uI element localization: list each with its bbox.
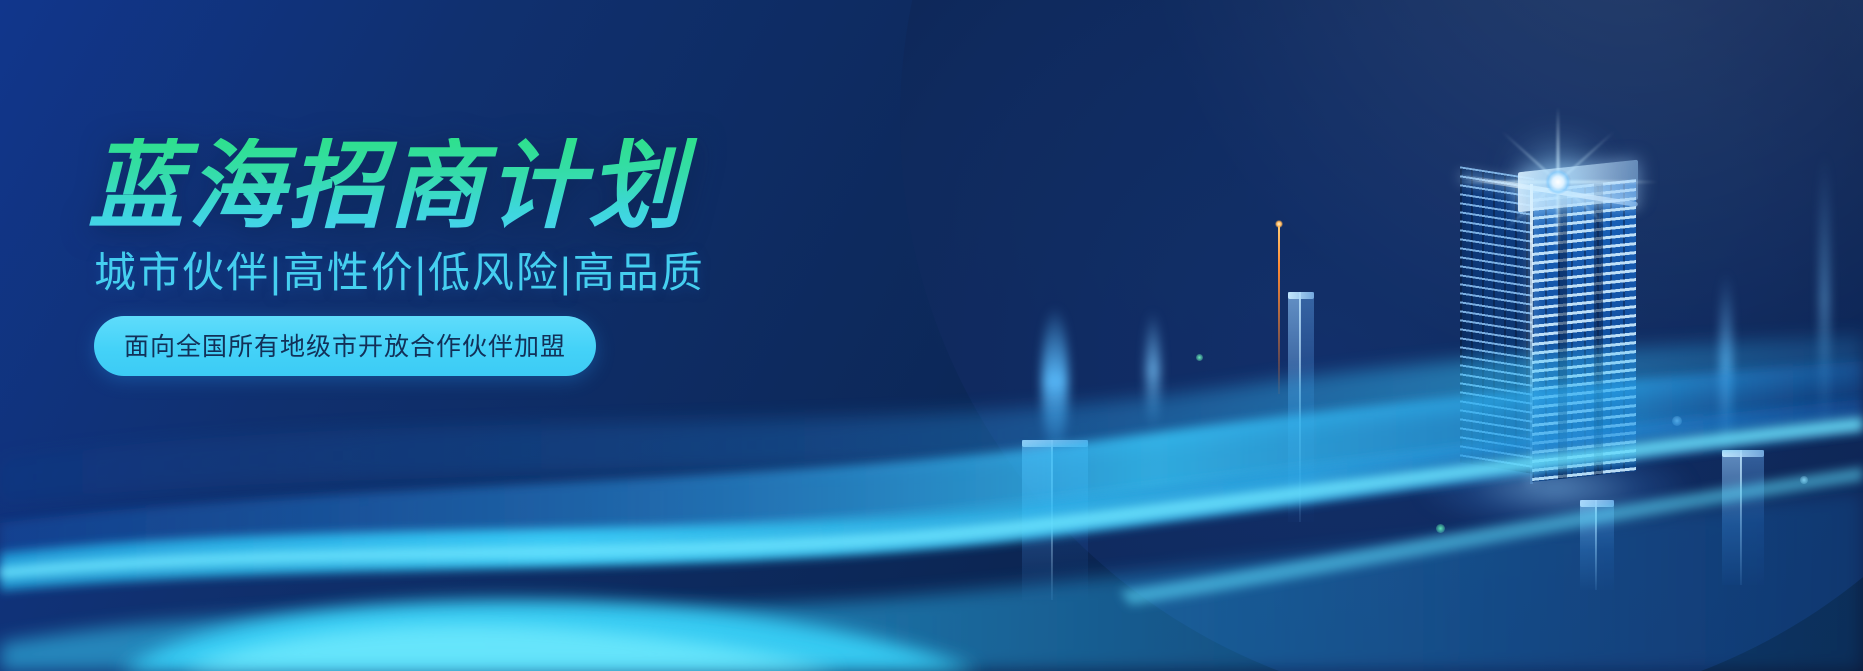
planet-outer-glow — [860, 0, 1863, 671]
glass-pillar — [1580, 500, 1614, 590]
city-illustration — [1160, 120, 1863, 590]
flare-ray-vertical — [1557, 107, 1560, 257]
flare-core — [1545, 169, 1571, 195]
highrise-building — [1460, 160, 1636, 480]
building-roof — [1518, 160, 1638, 213]
glow-dot — [1556, 420, 1563, 427]
orange-antenna-light — [1278, 224, 1280, 394]
pillar-cap — [1722, 450, 1764, 457]
banner-subtitle: 城市伙伴|高性价|低风险|高品质 — [94, 250, 848, 296]
pillar-face-right — [1052, 440, 1088, 600]
building-ridge-light — [1460, 174, 1639, 207]
cta-pill-badge[interactable]: 面向全国所有地级市开放合作伙伴加盟 — [94, 316, 596, 376]
pillar-cap — [1288, 292, 1314, 299]
pillar-edge — [1740, 450, 1742, 585]
pillar-face-right — [1300, 292, 1314, 522]
building-windows — [1532, 179, 1636, 482]
promo-banner: 蓝海招商计划 城市伙伴|高性价|低风险|高品质 面向全国所有地级市开放合作伙伴加… — [0, 0, 1863, 671]
pillar-face-left — [1022, 440, 1052, 600]
glass-pillar — [1722, 450, 1764, 585]
planet-rim-light — [900, 0, 1863, 671]
banner-text-block: 蓝海招商计划 城市伙伴|高性价|低风险|高品质 面向全国所有地级市开放合作伙伴加… — [88, 138, 848, 376]
glass-pillar — [1022, 440, 1088, 600]
glow-dot — [1436, 524, 1445, 533]
light-beam — [1720, 270, 1732, 460]
building-windows — [1460, 166, 1534, 474]
light-beam — [1820, 150, 1829, 450]
flare-ray-diagonal — [1502, 131, 1615, 233]
glow-dot — [1672, 416, 1682, 426]
pillar-face-left — [1722, 450, 1741, 585]
building-face-left — [1460, 166, 1534, 474]
flare-ray-horizontal — [1458, 181, 1658, 184]
building-base-glow — [1420, 460, 1690, 530]
light-beam — [1570, 160, 1580, 420]
pillar-face-right — [1741, 450, 1764, 585]
light-beam — [1146, 310, 1160, 430]
pillar-face-left — [1580, 500, 1596, 590]
pillar-cap — [1022, 440, 1088, 447]
pillar-cap — [1580, 500, 1614, 507]
glow-dot — [1196, 354, 1203, 361]
glass-pillar — [1288, 292, 1314, 522]
building-stripe — [1558, 186, 1567, 479]
pillar-edge — [1051, 440, 1053, 600]
glow-dot — [1800, 476, 1808, 484]
page-title: 蓝海招商计划 — [88, 138, 848, 236]
pillar-edge — [1299, 292, 1301, 522]
building-corner-edge — [1530, 184, 1533, 484]
flare-ray-diagonal — [1502, 131, 1615, 233]
building-stripe — [1594, 183, 1603, 476]
planet-inner-shade — [900, 0, 1863, 671]
planet-body — [900, 0, 1863, 671]
glow-dot — [1538, 456, 1546, 464]
planet-arc-decoration — [900, 0, 1863, 671]
light-flare-icon — [1453, 77, 1663, 287]
building-face-right — [1532, 179, 1636, 482]
pillar-top-glow — [1042, 306, 1068, 456]
pillar-face-right — [1596, 500, 1614, 590]
glow-dot — [1492, 240, 1498, 246]
pillar-edge — [1595, 500, 1597, 590]
pillar-face-left — [1288, 292, 1300, 522]
